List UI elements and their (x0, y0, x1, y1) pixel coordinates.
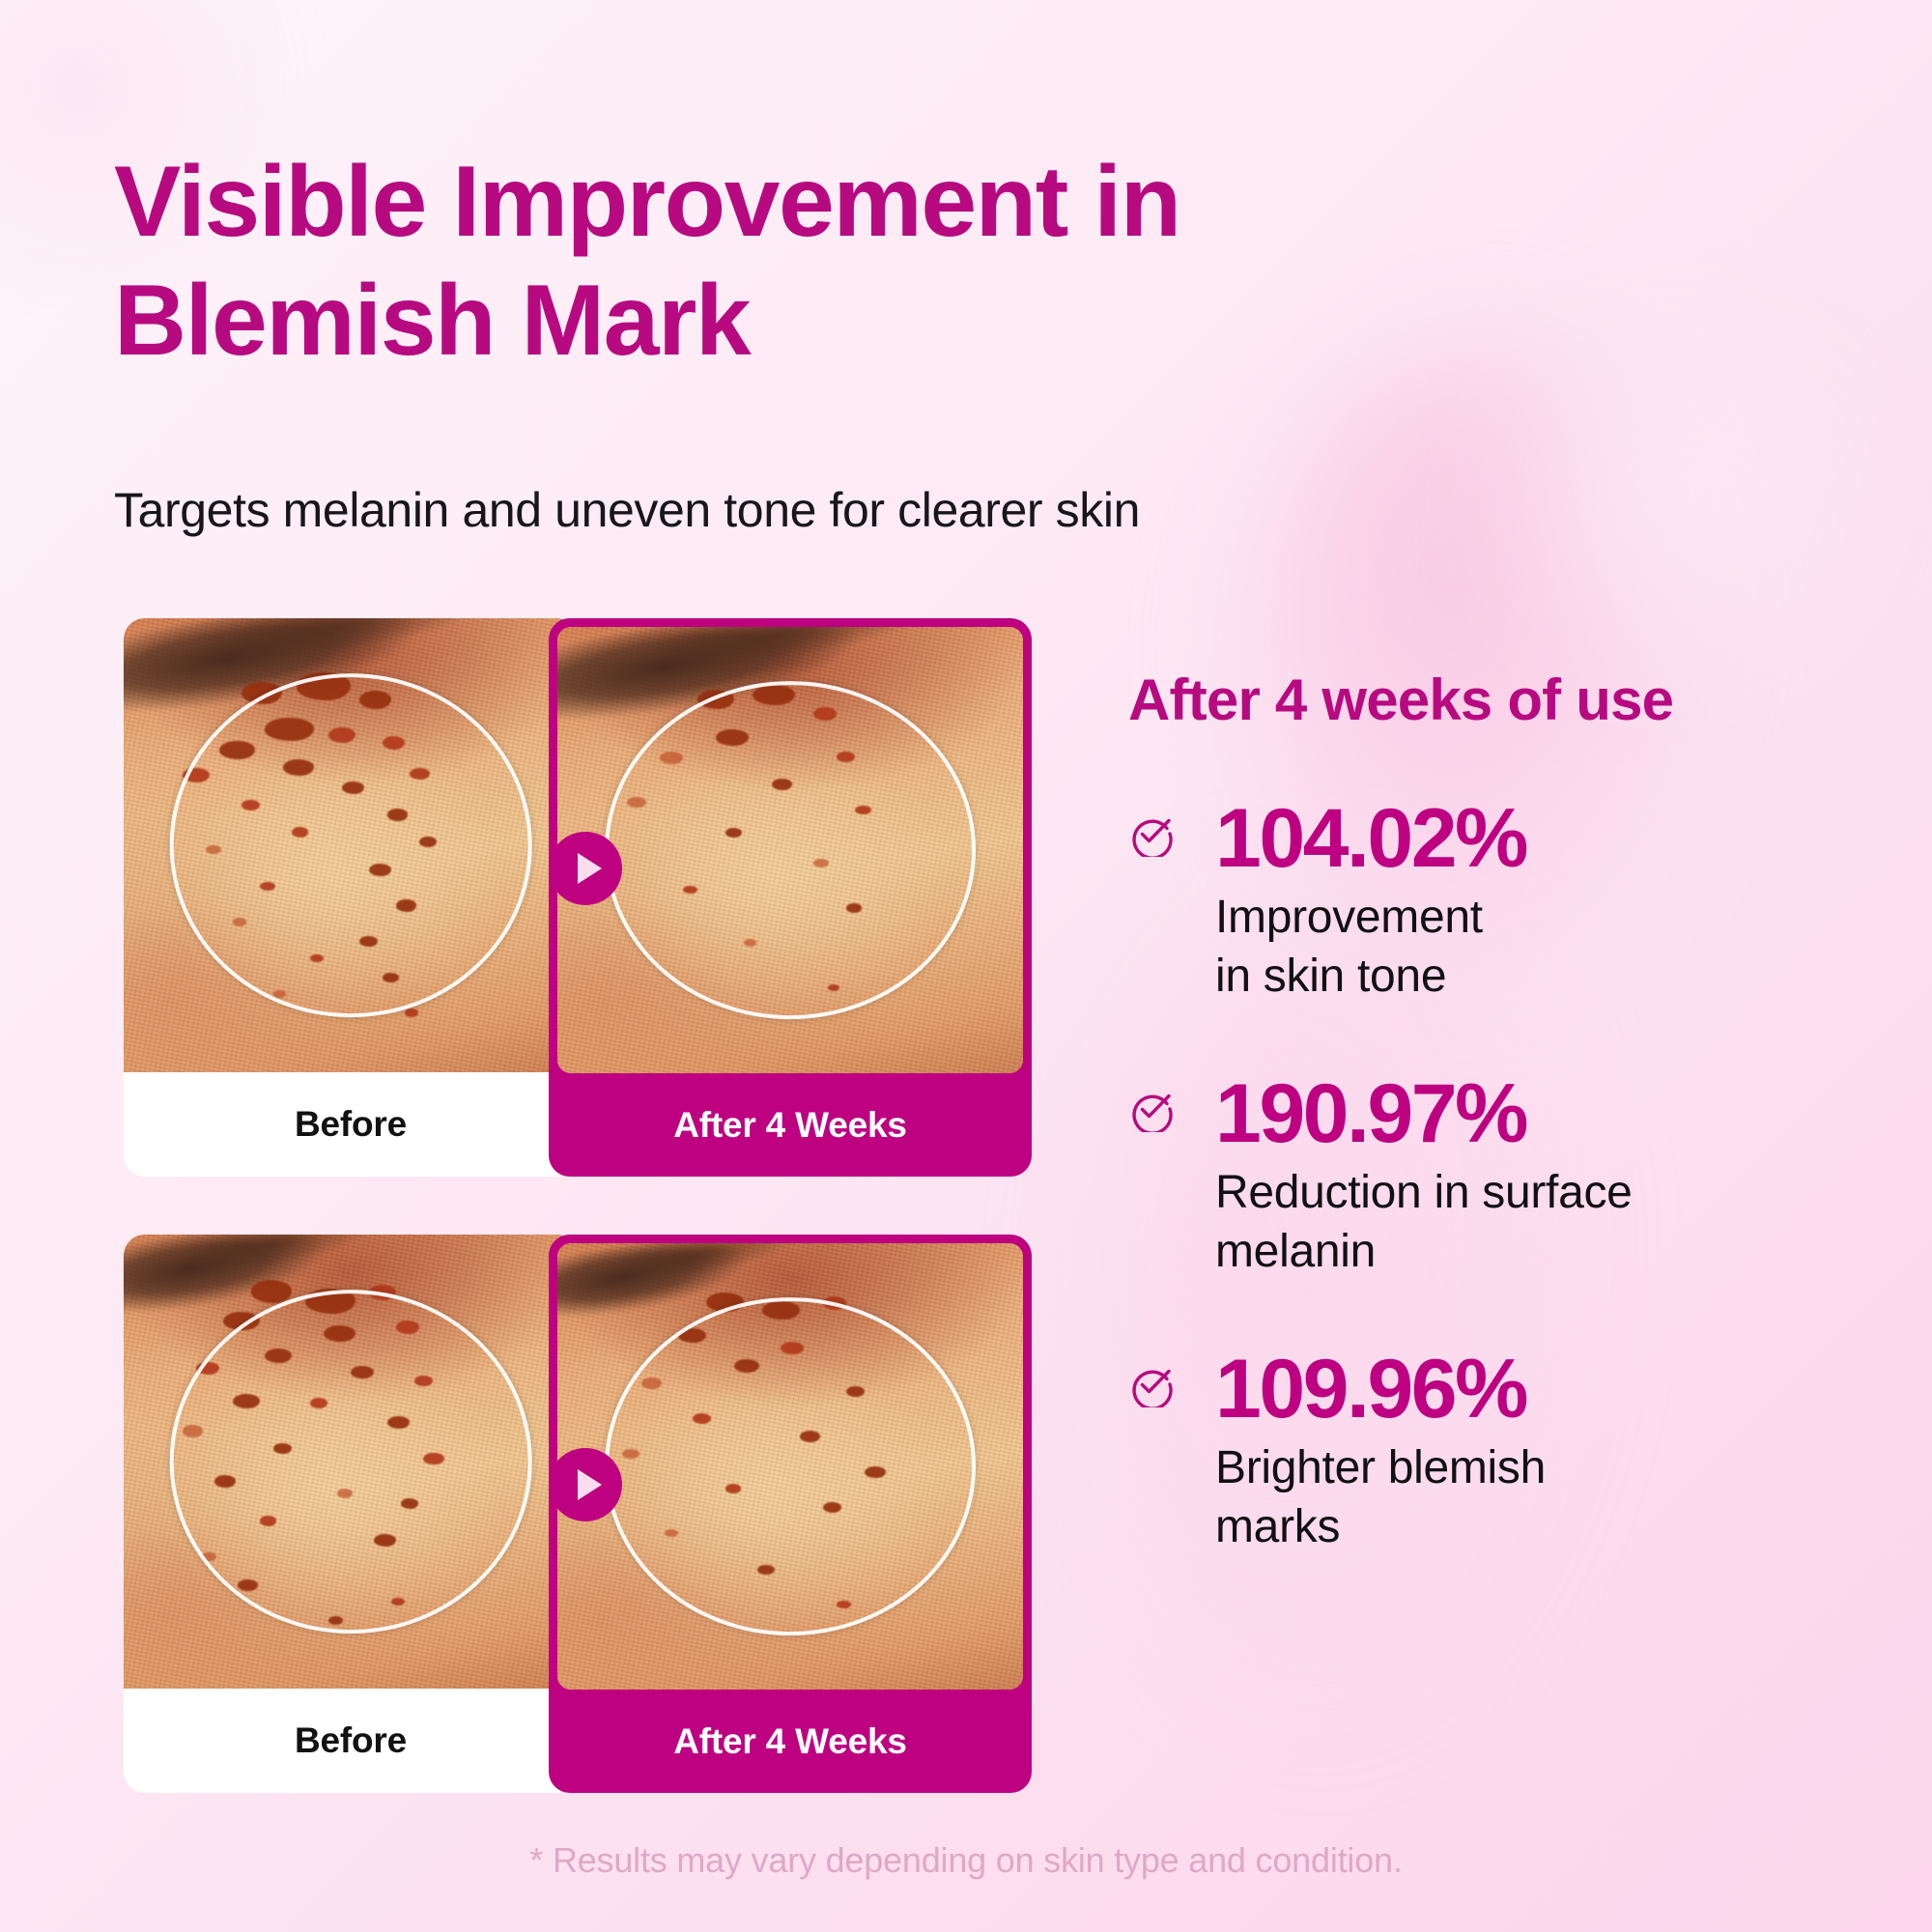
highlight-ring (170, 673, 532, 1017)
stat-item: 104.02% Improvement in skin tone (1128, 797, 1901, 1007)
circle-check-icon (1128, 810, 1175, 857)
stat-value: 104.02% (1215, 797, 1901, 880)
before-photo (124, 618, 578, 1072)
stat-label: Reduction in surface melanin (1215, 1163, 1853, 1282)
before-panel: Before (124, 618, 578, 1177)
stats-title: After 4 weeks of use (1128, 667, 1901, 733)
stat-item: 190.97% Reduction in surface melanin (1128, 1072, 1901, 1282)
promo-poster: Visible Improvement in Blemish Mark Targ… (0, 0, 1932, 1932)
before-panel: Before (124, 1235, 578, 1793)
arrow-triangle (578, 1469, 602, 1500)
stats-column: After 4 weeks of use 104.02% Improvement… (1128, 667, 1901, 1557)
before-label: Before (124, 1072, 578, 1177)
circle-check-icon (1128, 1086, 1175, 1132)
stat-value: 109.96% (1215, 1348, 1901, 1431)
after-label: After 4 Weeks (557, 1690, 1023, 1793)
stat-label: Improvement in skin tone (1215, 888, 1853, 1007)
comparison-card: Before (124, 1235, 1032, 1793)
after-photo (557, 1243, 1023, 1690)
page-title: Visible Improvement in Blemish Mark (114, 143, 1563, 380)
after-label: After 4 Weeks (557, 1073, 1023, 1177)
before-label: Before (124, 1689, 578, 1793)
comparison-card-list: Before (124, 618, 1032, 1851)
before-photo (124, 1235, 578, 1689)
disclaimer-text: * Results may vary depending on skin typ… (0, 1840, 1932, 1881)
after-panel: After 4 Weeks (549, 618, 1032, 1177)
play-arrow-icon[interactable] (549, 832, 622, 905)
highlight-ring (605, 681, 976, 1019)
highlight-ring (170, 1290, 532, 1634)
stat-label: Brighter blemish marks (1215, 1438, 1853, 1557)
arrow-triangle (578, 853, 602, 884)
circle-check-icon (1128, 1361, 1175, 1407)
play-arrow-icon[interactable] (549, 1448, 622, 1521)
comparison-card: Before (124, 618, 1032, 1177)
after-photo (557, 627, 1023, 1073)
after-panel: After 4 Weeks (549, 1235, 1032, 1793)
page-subtitle: Targets melanin and uneven tone for clea… (114, 481, 1563, 539)
stat-value: 190.97% (1215, 1072, 1901, 1155)
highlight-ring (605, 1297, 976, 1635)
stat-item: 109.96% Brighter blemish marks (1128, 1348, 1901, 1557)
